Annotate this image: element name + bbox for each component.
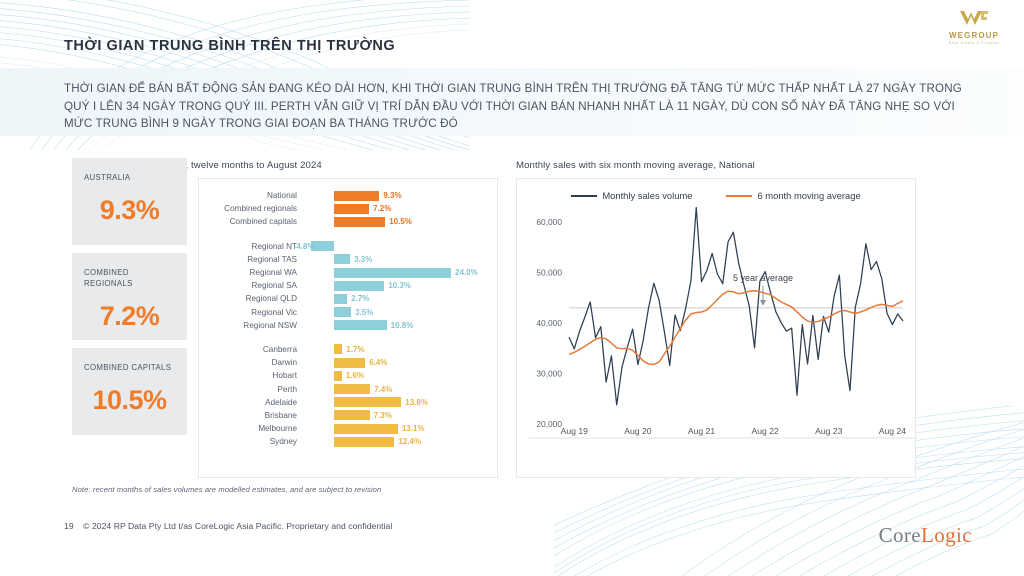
bar-value-label: 7.3% (374, 411, 392, 420)
bar-value-label: 24.0% (455, 268, 478, 277)
bar-track: 3.5% (303, 306, 497, 319)
bar-chart-row: Melbourne13.1% (199, 422, 497, 435)
bar-category-label: Darwin (199, 358, 303, 367)
bar-chart-row: Perth7.4% (199, 382, 497, 395)
bar-category-label: Melbourne (199, 424, 303, 433)
bar (334, 320, 387, 330)
stat-value: 7.2% (84, 301, 175, 332)
bar-value-label: 7.2% (373, 204, 391, 213)
corelogic-logo-logic: Logic (921, 523, 972, 547)
bar-chart-row: National9.3% (199, 189, 497, 202)
bar-chart-row: Regional Vic3.5% (199, 306, 497, 319)
bar-value-label: -4.8% (294, 242, 315, 251)
stat-card-australia: AUSTRALIA 9.3% (72, 158, 187, 245)
y-axis-tick-label: 50,000 (536, 268, 562, 278)
key-stats-column: AUSTRALIA 9.3% COMBINED REGIONALS 7.2% C… (72, 158, 187, 443)
bar (334, 268, 451, 278)
stat-label: AUSTRALIA (84, 172, 175, 183)
bar-category-label: Combined regionals (199, 204, 303, 213)
x-axis-tick-label: Aug 19 (561, 426, 588, 436)
bar-value-label: 9.3% (383, 191, 401, 200)
bar (334, 410, 370, 420)
bar-chart-row: Canberra1.7% (199, 343, 497, 356)
bar-value-label: 1.7% (346, 345, 364, 354)
bar-category-label: Regional QLD (199, 294, 303, 303)
stat-value: 9.3% (84, 195, 175, 226)
bar-chart-row: Combined regionals7.2% (199, 202, 497, 215)
bar-track: 10.5% (303, 215, 497, 228)
bar-chart-row: Combined capitals10.5% (199, 215, 497, 228)
bar-category-label: Perth (199, 385, 303, 394)
bar-value-label: 10.8% (391, 321, 414, 330)
bar (334, 307, 351, 317)
bar-value-label: 3.5% (355, 308, 373, 317)
bar-value-label: 2.7% (351, 294, 369, 303)
bar-category-label: Brisbane (199, 411, 303, 420)
bar-track: 3.3% (303, 253, 497, 266)
legend-swatch-line (726, 195, 752, 197)
bar-value-label: 6.4% (369, 358, 387, 367)
bar-value-label: 10.3% (388, 281, 411, 290)
x-axis-tick-label: Aug 22 (752, 426, 779, 436)
bar-category-label: Adelaide (199, 398, 303, 407)
annotation-arrow-head (760, 300, 766, 306)
corelogic-logo: CoreLogic (879, 523, 972, 548)
bar-track: 12.4% (303, 435, 497, 448)
wegroup-logo: WEGROUP Real Estate & Finance (936, 10, 1012, 45)
bar-track: -4.8% (303, 240, 497, 253)
stat-label: COMBINED REGIONALS (84, 267, 175, 289)
bar (334, 424, 398, 434)
bar-category-label: Regional SA (199, 281, 303, 290)
line-chart-plot: 20,00030,00040,00050,00060,0005 year ave… (517, 201, 917, 456)
bar (334, 294, 347, 304)
bar-category-label: Regional WA (199, 268, 303, 277)
wegroup-logo-tagline: Real Estate & Finance (936, 41, 1012, 45)
annotation-label: 5 year average (733, 273, 793, 283)
bar-group-spacer (199, 332, 497, 343)
bar-chart-rows: National9.3%Combined regionals7.2%Combin… (199, 179, 497, 448)
stat-value: 10.5% (84, 385, 175, 416)
bar (334, 371, 342, 381)
x-axis-tick-label: Aug 24 (879, 426, 906, 436)
wegroup-logo-mark (936, 10, 1012, 30)
wegroup-logo-glyph (959, 10, 989, 27)
bar-track: 7.3% (303, 409, 497, 422)
x-axis-tick-label: Aug 23 (815, 426, 842, 436)
bar-chart-row: Hobart1.6% (199, 369, 497, 382)
bar (334, 217, 385, 227)
bar-track: 24.0% (303, 266, 497, 279)
line-series-monthly-sales-volume (569, 208, 903, 405)
line-chart-legend: Monthly sales volume 6 month moving aver… (517, 179, 915, 201)
bar (334, 384, 370, 394)
bar-track: 7.2% (303, 202, 497, 215)
page-number: 19 (64, 521, 74, 531)
bar (334, 358, 365, 368)
legend-label: Monthly sales volume (602, 190, 692, 201)
bar-track: 1.6% (303, 369, 497, 382)
bar-category-label: Regional TAS (199, 255, 303, 264)
y-axis-tick-label: 60,000 (536, 217, 562, 227)
footer: 19 © 2024 RP Data Pty Ltd t/as CoreLogic… (64, 521, 392, 531)
bar-chart-row: Sydney12.4% (199, 435, 497, 448)
legend-swatch-line (571, 195, 597, 197)
legend-item-moving-average: 6 month moving average (726, 190, 860, 201)
bar-value-label: 13.8% (405, 398, 428, 407)
x-axis-tick-label: Aug 21 (688, 426, 715, 436)
bar (334, 437, 394, 447)
bar (334, 344, 342, 354)
bar-track: 1.7% (303, 343, 497, 356)
bar-category-label: Combined capitals (199, 217, 303, 226)
bar-chart-row: Regional NT-4.8% (199, 240, 497, 253)
intro-paragraph: THỜI GIAN ĐỂ BÁN BẤT ĐỘNG SẢN ĐANG KÉO D… (64, 80, 964, 133)
copyright-text: © 2024 RP Data Pty Ltd t/as CoreLogic As… (83, 521, 392, 531)
bar-chart-row: Regional SA10.3% (199, 279, 497, 292)
bar-chart-row: Regional QLD2.7% (199, 292, 497, 305)
bar-value-label: 13.1% (402, 424, 425, 433)
monthly-sales-line-chart: Monthly sales volume 6 month moving aver… (516, 178, 916, 478)
page-title: THỜI GIAN TRUNG BÌNH TRÊN THỊ TRƯỜNG (64, 38, 395, 54)
corelogic-logo-core: Core (879, 523, 921, 547)
bar-chart-row: Darwin6.4% (199, 356, 497, 369)
right-chart-caption: Monthly sales with six month moving aver… (516, 160, 916, 171)
bar-value-label: 1.6% (346, 371, 364, 380)
bar-category-label: Regional NT (199, 242, 303, 251)
bar-category-label: Sydney (199, 437, 303, 446)
bar-track: 6.4% (303, 356, 497, 369)
bar-chart-row: Regional TAS3.3% (199, 253, 497, 266)
stat-label: COMBINED CAPITALS (84, 362, 175, 373)
chart-note: Note: recent months of sales volumes are… (72, 485, 381, 494)
bar-value-label: 3.3% (354, 255, 372, 264)
bar-category-label: Regional NSW (199, 321, 303, 330)
bar-value-label: 7.4% (374, 385, 392, 394)
stat-card-combined-capitals: COMBINED CAPITALS 10.5% (72, 348, 187, 435)
bar-category-label: National (199, 191, 303, 200)
bar (334, 254, 350, 264)
bar (334, 204, 369, 214)
bar-track: 7.4% (303, 382, 497, 395)
bar-chart-row: Adelaide13.8% (199, 396, 497, 409)
wegroup-logo-name: WEGROUP (936, 31, 1012, 40)
bar (334, 281, 384, 291)
legend-item-monthly-sales-volume: Monthly sales volume (571, 190, 692, 201)
bar-track: 13.8% (303, 396, 497, 409)
bar (334, 397, 401, 407)
bar-category-label: Canberra (199, 345, 303, 354)
bar (334, 191, 379, 201)
bar-group-spacer (199, 229, 497, 240)
stat-card-combined-regionals: COMBINED REGIONALS 7.2% (72, 253, 187, 340)
bar-track: 9.3% (303, 189, 497, 202)
bar-value-label: 10.5% (389, 217, 412, 226)
bar-track: 2.7% (303, 292, 497, 305)
legend-label: 6 month moving average (757, 190, 860, 201)
y-axis-tick-label: 20,000 (536, 419, 562, 429)
bar-value-label: 12.4% (398, 437, 421, 446)
sales-volume-bar-chart: National9.3%Combined regionals7.2%Combin… (198, 178, 498, 478)
bar-category-label: Regional Vic (199, 308, 303, 317)
bar-chart-row: Regional WA24.0% (199, 266, 497, 279)
bar-track: 10.8% (303, 319, 497, 332)
bar-category-label: Hobart (199, 371, 303, 380)
y-axis-tick-label: 40,000 (536, 318, 562, 328)
bar-chart-row: Regional NSW10.8% (199, 319, 497, 332)
x-axis-tick-label: Aug 20 (624, 426, 651, 436)
y-axis-tick-label: 30,000 (536, 369, 562, 379)
bar-track: 10.3% (303, 279, 497, 292)
bar-track: 13.1% (303, 422, 497, 435)
bar-chart-row: Brisbane7.3% (199, 409, 497, 422)
